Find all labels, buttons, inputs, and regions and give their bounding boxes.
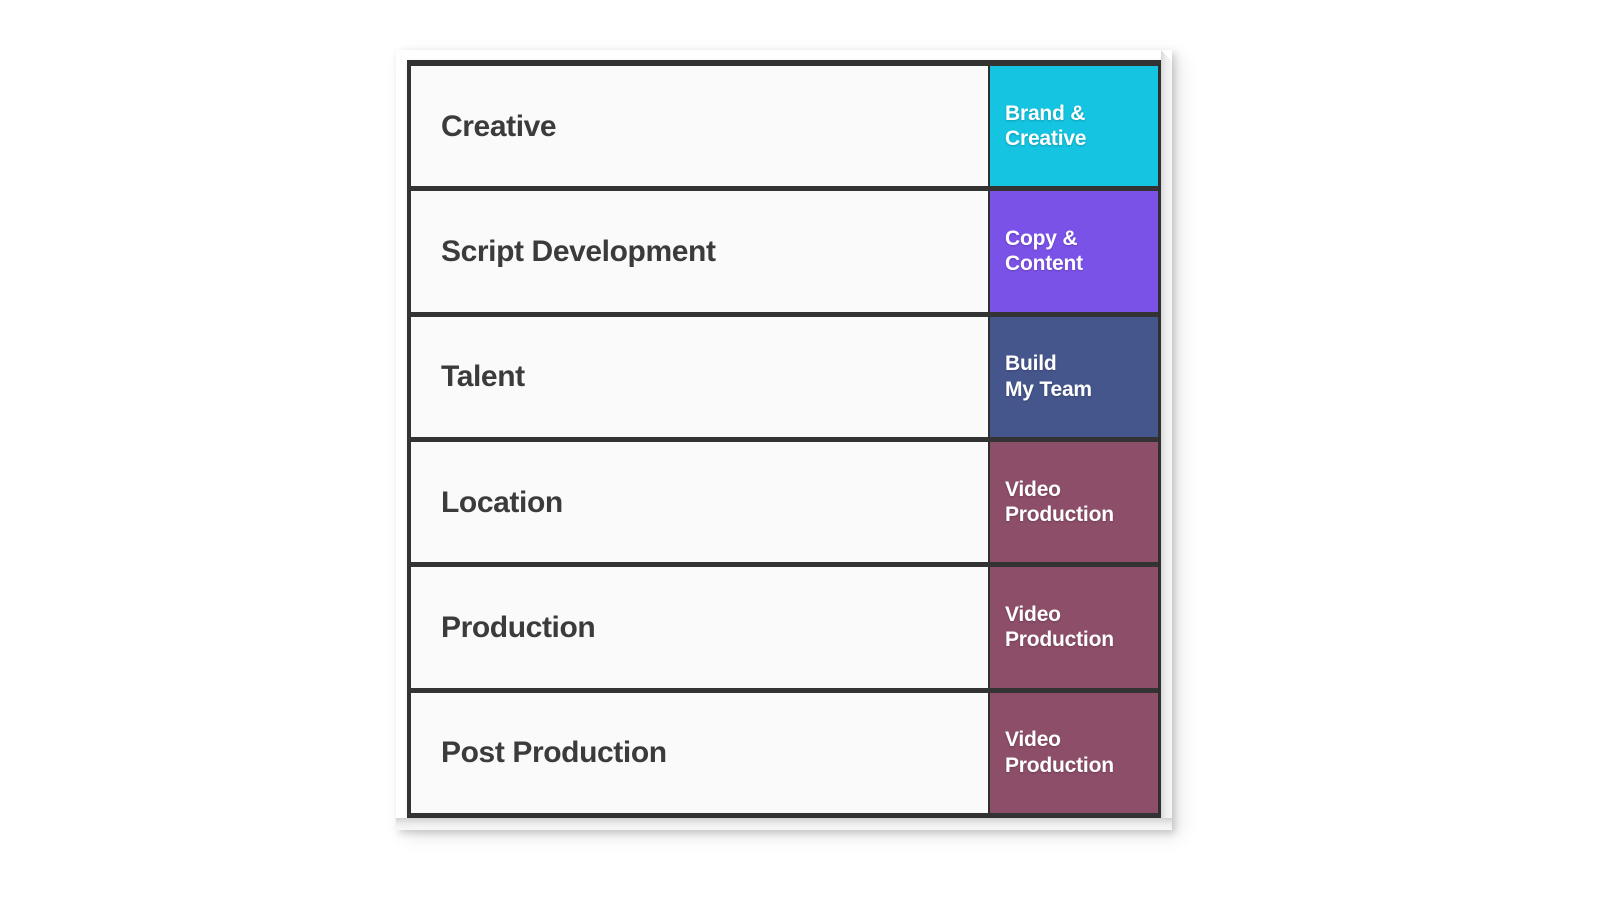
stage-label: Talent <box>441 360 525 393</box>
workflow-card-frame: Creative Brand & Creative Script Develop… <box>396 50 1172 830</box>
category-tag[interactable]: Brand & Creative <box>988 66 1158 186</box>
stage-label-cell: Creative <box>411 66 988 186</box>
category-tag[interactable]: Video Production <box>988 693 1158 813</box>
category-tag[interactable]: Build My Team <box>988 317 1158 437</box>
card-bevel-corner <box>1161 50 1172 61</box>
stage-label: Post Production <box>441 736 667 769</box>
stage-label: Location <box>441 486 563 519</box>
stage-label-cell: Production <box>411 567 988 687</box>
category-tag[interactable]: Video Production <box>988 442 1158 562</box>
stage-label: Creative <box>441 110 556 143</box>
table-row[interactable]: Talent Build My Team <box>411 317 1158 442</box>
table-row[interactable]: Location Video Production <box>411 442 1158 567</box>
category-tag-label: Video Production <box>1005 727 1158 778</box>
category-tag-label: Video Production <box>1005 602 1158 653</box>
stage-label-cell: Post Production <box>411 693 988 813</box>
category-tag[interactable]: Video Production <box>988 567 1158 687</box>
stage-label-cell: Talent <box>411 317 988 437</box>
category-tag-label: Video Production <box>1005 477 1158 528</box>
stage-label-cell: Script Development <box>411 191 988 311</box>
category-tag-label: Copy & Content <box>1005 226 1158 277</box>
stage-label: Production <box>441 611 595 644</box>
workflow-table: Creative Brand & Creative Script Develop… <box>407 60 1162 818</box>
table-row[interactable]: Production Video Production <box>411 567 1158 692</box>
table-row[interactable]: Script Development Copy & Content <box>411 191 1158 316</box>
table-row[interactable]: Post Production Video Production <box>411 693 1158 813</box>
stage-label-cell: Location <box>411 442 988 562</box>
category-tag-label: Build My Team <box>1005 351 1158 402</box>
table-row[interactable]: Creative Brand & Creative <box>411 66 1158 191</box>
category-tag[interactable]: Copy & Content <box>988 191 1158 311</box>
category-tag-label: Brand & Creative <box>1005 101 1158 152</box>
stage-label: Script Development <box>441 235 716 268</box>
card-bevel-right <box>1161 50 1172 830</box>
page-canvas: Creative Brand & Creative Script Develop… <box>0 0 1600 899</box>
card-bevel-bottom <box>396 818 1172 830</box>
